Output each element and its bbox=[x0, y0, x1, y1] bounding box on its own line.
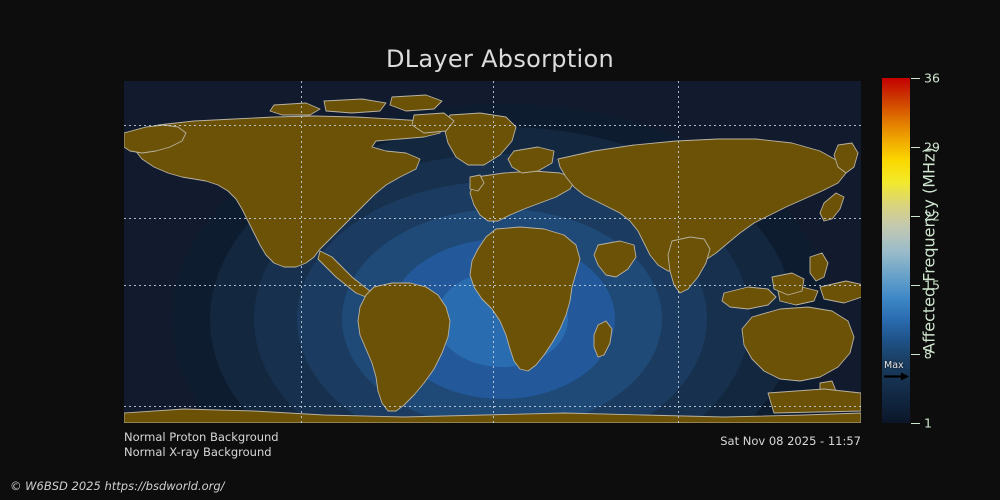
colorbar-tick-1 bbox=[911, 423, 920, 424]
copyright-label[interactable]: © W6BSD 2025 https://bsdworld.org/ bbox=[10, 479, 225, 493]
world-map-svg bbox=[124, 81, 861, 423]
colorbar-axis-label: Affected Frequency (MHz) bbox=[916, 78, 942, 423]
proton-status-note: Normal Proton Background bbox=[124, 430, 279, 444]
colorbar-max-marker: Max bbox=[882, 361, 910, 383]
xray-status-note: Normal X-ray Background bbox=[124, 445, 272, 459]
max-marker-label: Max bbox=[884, 360, 904, 371]
page-title: DLayer Absorption bbox=[0, 45, 1000, 73]
world-map-panel[interactable] bbox=[124, 81, 861, 423]
timestamp-label: Sat Nov 08 2025 - 11:57 bbox=[720, 434, 861, 448]
land-antarctic-peninsula bbox=[768, 389, 861, 413]
land-canada-islands-1 bbox=[324, 99, 386, 113]
colorbar-axis-label-text: Affected Frequency (MHz) bbox=[920, 147, 939, 353]
dlayer-absorption-page: DLayer Absorption bbox=[0, 0, 1000, 500]
max-arrow-icon bbox=[884, 372, 909, 381]
